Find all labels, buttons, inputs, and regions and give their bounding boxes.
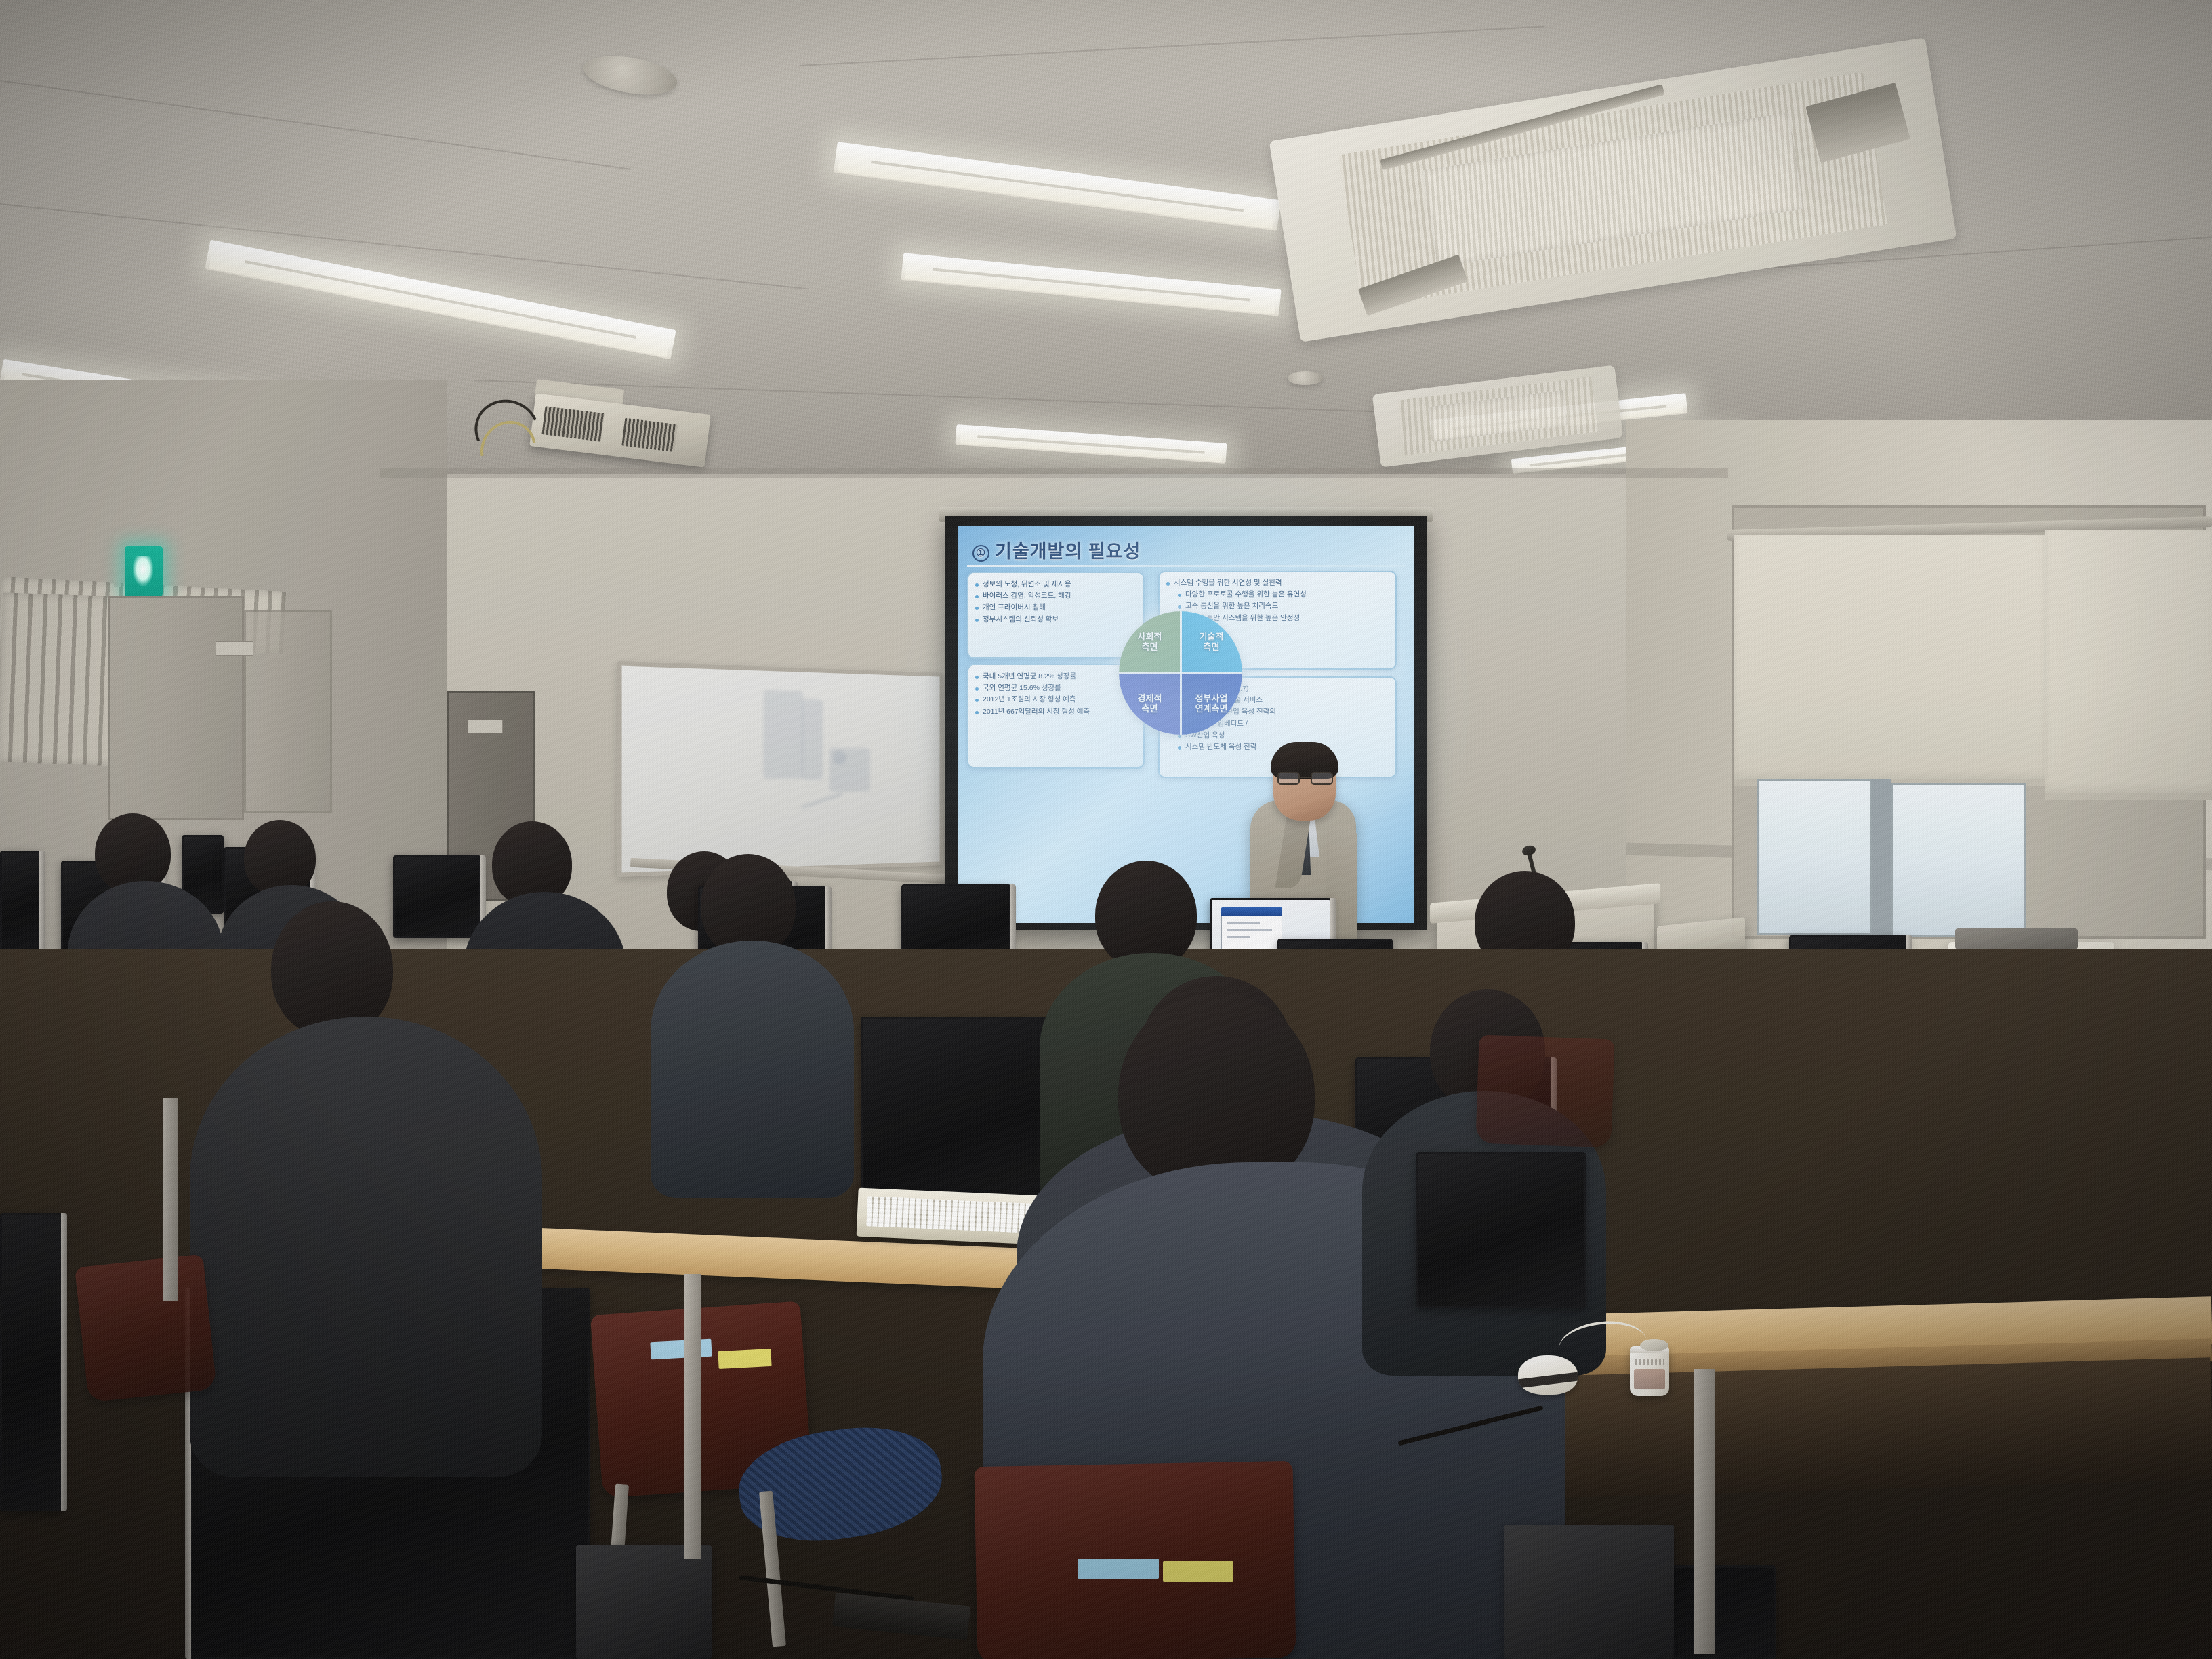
monitor[interactable] xyxy=(0,851,41,959)
slide-bullet: 2011년 667억달러의 시장 형성 예측 xyxy=(975,707,1136,717)
window-blind-left[interactable] xyxy=(1734,535,2045,779)
slide-bullet: 정부시스템의 신뢰성 확보 xyxy=(975,615,1136,625)
slide-title-number: ① xyxy=(972,545,989,562)
smoke-detector xyxy=(1288,371,1323,385)
slide-bullet: 고속 통신을 위한 높은 처리속도 xyxy=(1166,601,1389,611)
slide-bullet: 시스템 수행을 위한 시연성 및 실천력 xyxy=(1166,578,1389,588)
door-left-secondary[interactable] xyxy=(244,610,332,813)
window-glass-pane xyxy=(1891,783,2026,937)
slide-bullet: 바이러스 감염, 악성코드, 해킹 xyxy=(975,591,1136,601)
slide-bullet: 정보의 도청, 위변조 및 재사용 xyxy=(975,579,1136,590)
window-glass-pane xyxy=(1757,779,1872,935)
chair-label-sticker xyxy=(1078,1559,1159,1579)
paper-coffee-cup xyxy=(1630,1346,1669,1396)
door-left[interactable] xyxy=(108,596,244,820)
slide-title-text: 기술개발의 필요성 xyxy=(995,541,1141,562)
slide-bullet: 개인 프라이버시 침해 xyxy=(975,602,1136,613)
whiteboard xyxy=(617,661,943,877)
door-sign xyxy=(468,720,503,733)
monitor[interactable] xyxy=(393,855,481,938)
slide-bullet: SW산업 육성 xyxy=(1166,731,1389,741)
chair[interactable] xyxy=(75,1254,217,1403)
desk-leg xyxy=(163,1098,178,1301)
blind-bottom-bar[interactable] xyxy=(2045,793,2212,800)
pc-tower xyxy=(576,1545,712,1659)
pc-tower xyxy=(1504,1525,1674,1659)
chair-label-sticker xyxy=(650,1339,712,1360)
cup-lid xyxy=(1640,1339,1668,1351)
desk-leg xyxy=(684,1274,701,1559)
classroom-photo: ①기술개발의 필요성 정보의 도청, 위변조 및 재사용바이러스 감염, 악성코… xyxy=(0,0,2212,1659)
slide-bullet: 2012년 1조원의 시장 형성 예측 xyxy=(975,695,1136,705)
chair[interactable] xyxy=(1475,1035,1614,1148)
slide-title-underline xyxy=(967,565,1405,567)
window-mullion xyxy=(1872,779,1891,937)
exit-sign-bracket xyxy=(114,535,121,587)
slide-bullet: 국외 연평균 15.6% 성장률 xyxy=(975,683,1136,693)
emergency-exit-sign xyxy=(125,546,163,596)
monitor[interactable] xyxy=(1416,1152,1586,1308)
window-blind-right[interactable] xyxy=(2045,530,2212,793)
wall-trim xyxy=(380,468,1728,478)
slide-title: ①기술개발의 필요성 xyxy=(972,537,1141,563)
desk-leg xyxy=(1694,1369,1715,1654)
slide-venn-diagram: 사회적측면 기술적측면 경제적측면 정부사업연계측면 xyxy=(1119,611,1242,735)
chair-label-sticker xyxy=(1163,1561,1233,1582)
slide-box-social: 정보의 도청, 위변조 및 재사용바이러스 감염, 악성코드, 해킹개인 프라이… xyxy=(967,572,1145,659)
door-sign xyxy=(216,641,253,656)
presenter-glasses xyxy=(1277,772,1333,785)
slide-box-economic: 국내 5개년 연평균 8.2% 성장률국외 연평균 15.6% 성장률2012년… xyxy=(967,664,1145,769)
chair-label-sticker xyxy=(718,1349,771,1369)
slide-bullet: 국내 5개년 연평균 8.2% 성장률 xyxy=(975,672,1136,682)
monitor[interactable] xyxy=(0,1213,62,1511)
slide-bullet: 다양한 프로토콜 수행을 위한 높은 유연성 xyxy=(1166,590,1389,600)
